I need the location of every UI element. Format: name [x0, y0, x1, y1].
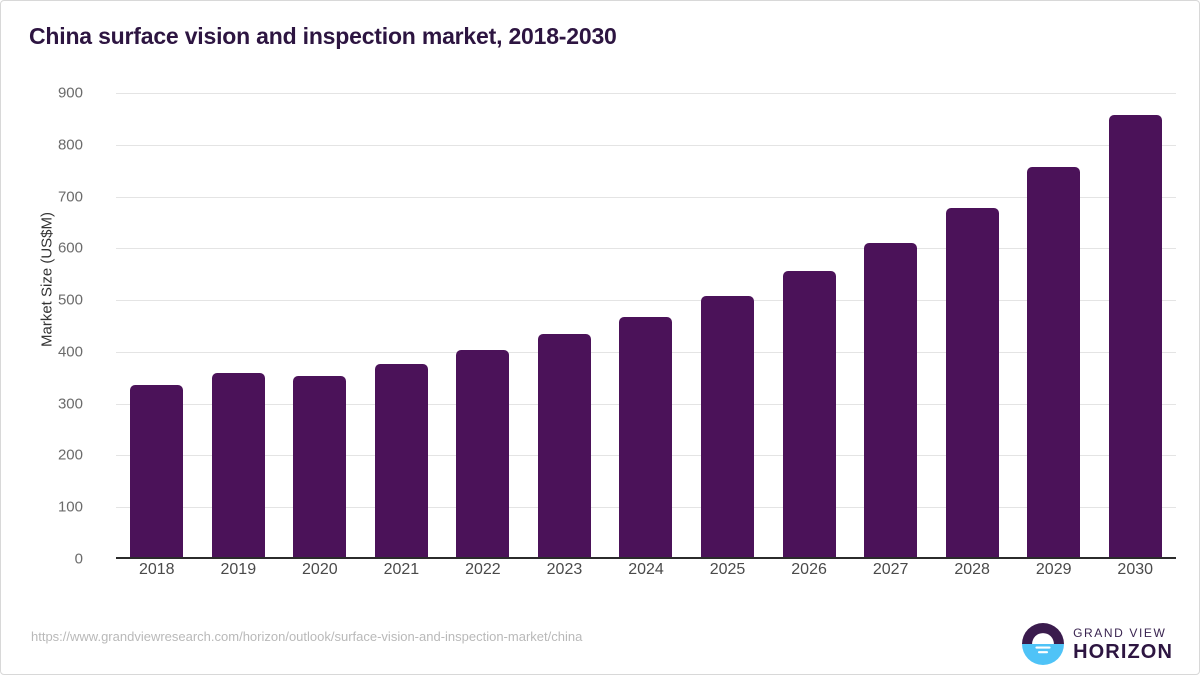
bar-2020[interactable]	[293, 376, 346, 559]
x-tick-label-2029: 2029	[1013, 561, 1095, 579]
bar-group[interactable]	[279, 93, 361, 559]
x-axis-line	[116, 557, 1176, 559]
y-tick-label: 500	[13, 292, 83, 309]
bar-group[interactable]	[687, 93, 769, 559]
x-tick-label-2027: 2027	[850, 561, 932, 579]
x-tick-label-2019: 2019	[198, 561, 280, 579]
plot-area: 9008007006005004003002001000	[116, 93, 1176, 559]
x-tick-label-2018: 2018	[116, 561, 198, 579]
x-tick-label-2024: 2024	[605, 561, 687, 579]
bar-group[interactable]	[931, 93, 1013, 559]
y-tick-label: 900	[13, 85, 83, 102]
bar-2029[interactable]	[1027, 167, 1080, 559]
x-tick-label-2022: 2022	[442, 561, 524, 579]
bar-group[interactable]	[361, 93, 443, 559]
bar-2025[interactable]	[701, 296, 754, 559]
bar-2023[interactable]	[538, 334, 591, 559]
bar-group[interactable]	[116, 93, 198, 559]
logo-line-grand-view: GRAND VIEW	[1073, 627, 1173, 639]
x-tick-label-2020: 2020	[279, 561, 361, 579]
bar-2019[interactable]	[212, 373, 265, 559]
x-tick-label-2021: 2021	[361, 561, 443, 579]
logo-wordmark: GRAND VIEW HORIZON	[1073, 627, 1173, 662]
bar-group[interactable]	[768, 93, 850, 559]
bar-2021[interactable]	[375, 364, 428, 559]
bar-2030[interactable]	[1109, 115, 1162, 559]
bar-group[interactable]	[1094, 93, 1176, 559]
bar-group[interactable]	[850, 93, 932, 559]
horizon-sunrise-circle-icon	[1022, 623, 1064, 665]
bar-2022[interactable]	[456, 350, 509, 559]
x-tick-label-2028: 2028	[931, 561, 1013, 579]
page-title: China surface vision and inspection mark…	[29, 23, 617, 50]
bar-2024[interactable]	[619, 317, 672, 559]
bar-2027[interactable]	[864, 243, 917, 559]
y-tick-label: 600	[13, 240, 83, 257]
bar-group[interactable]	[605, 93, 687, 559]
logo-line-horizon: HORIZON	[1073, 642, 1173, 662]
y-tick-label: 400	[13, 343, 83, 360]
x-tick-label-2025: 2025	[687, 561, 769, 579]
bars-layer	[116, 93, 1176, 559]
bar-2028[interactable]	[946, 208, 999, 559]
bar-group[interactable]	[1013, 93, 1095, 559]
brand-logo: GRAND VIEW HORIZON	[1022, 623, 1173, 665]
y-tick-label: 300	[13, 395, 83, 412]
bar-2026[interactable]	[783, 271, 836, 559]
bar-group[interactable]	[442, 93, 524, 559]
y-tick-label: 700	[13, 188, 83, 205]
bar-group[interactable]	[524, 93, 606, 559]
bar-2018[interactable]	[130, 385, 183, 559]
source-url[interactable]: https://www.grandviewresearch.com/horizo…	[31, 629, 582, 644]
y-tick-label: 800	[13, 136, 83, 153]
x-tick-label-2026: 2026	[768, 561, 850, 579]
x-axis-ticks: 2018201920202021202220232024202520262027…	[116, 561, 1176, 601]
chart-page: China surface vision and inspection mark…	[0, 0, 1200, 675]
bar-group[interactable]	[198, 93, 280, 559]
y-tick-label: 200	[13, 447, 83, 464]
x-tick-label-2030: 2030	[1094, 561, 1176, 579]
y-tick-label: 100	[13, 499, 83, 516]
y-tick-label: 0	[13, 551, 83, 568]
x-tick-label-2023: 2023	[524, 561, 606, 579]
